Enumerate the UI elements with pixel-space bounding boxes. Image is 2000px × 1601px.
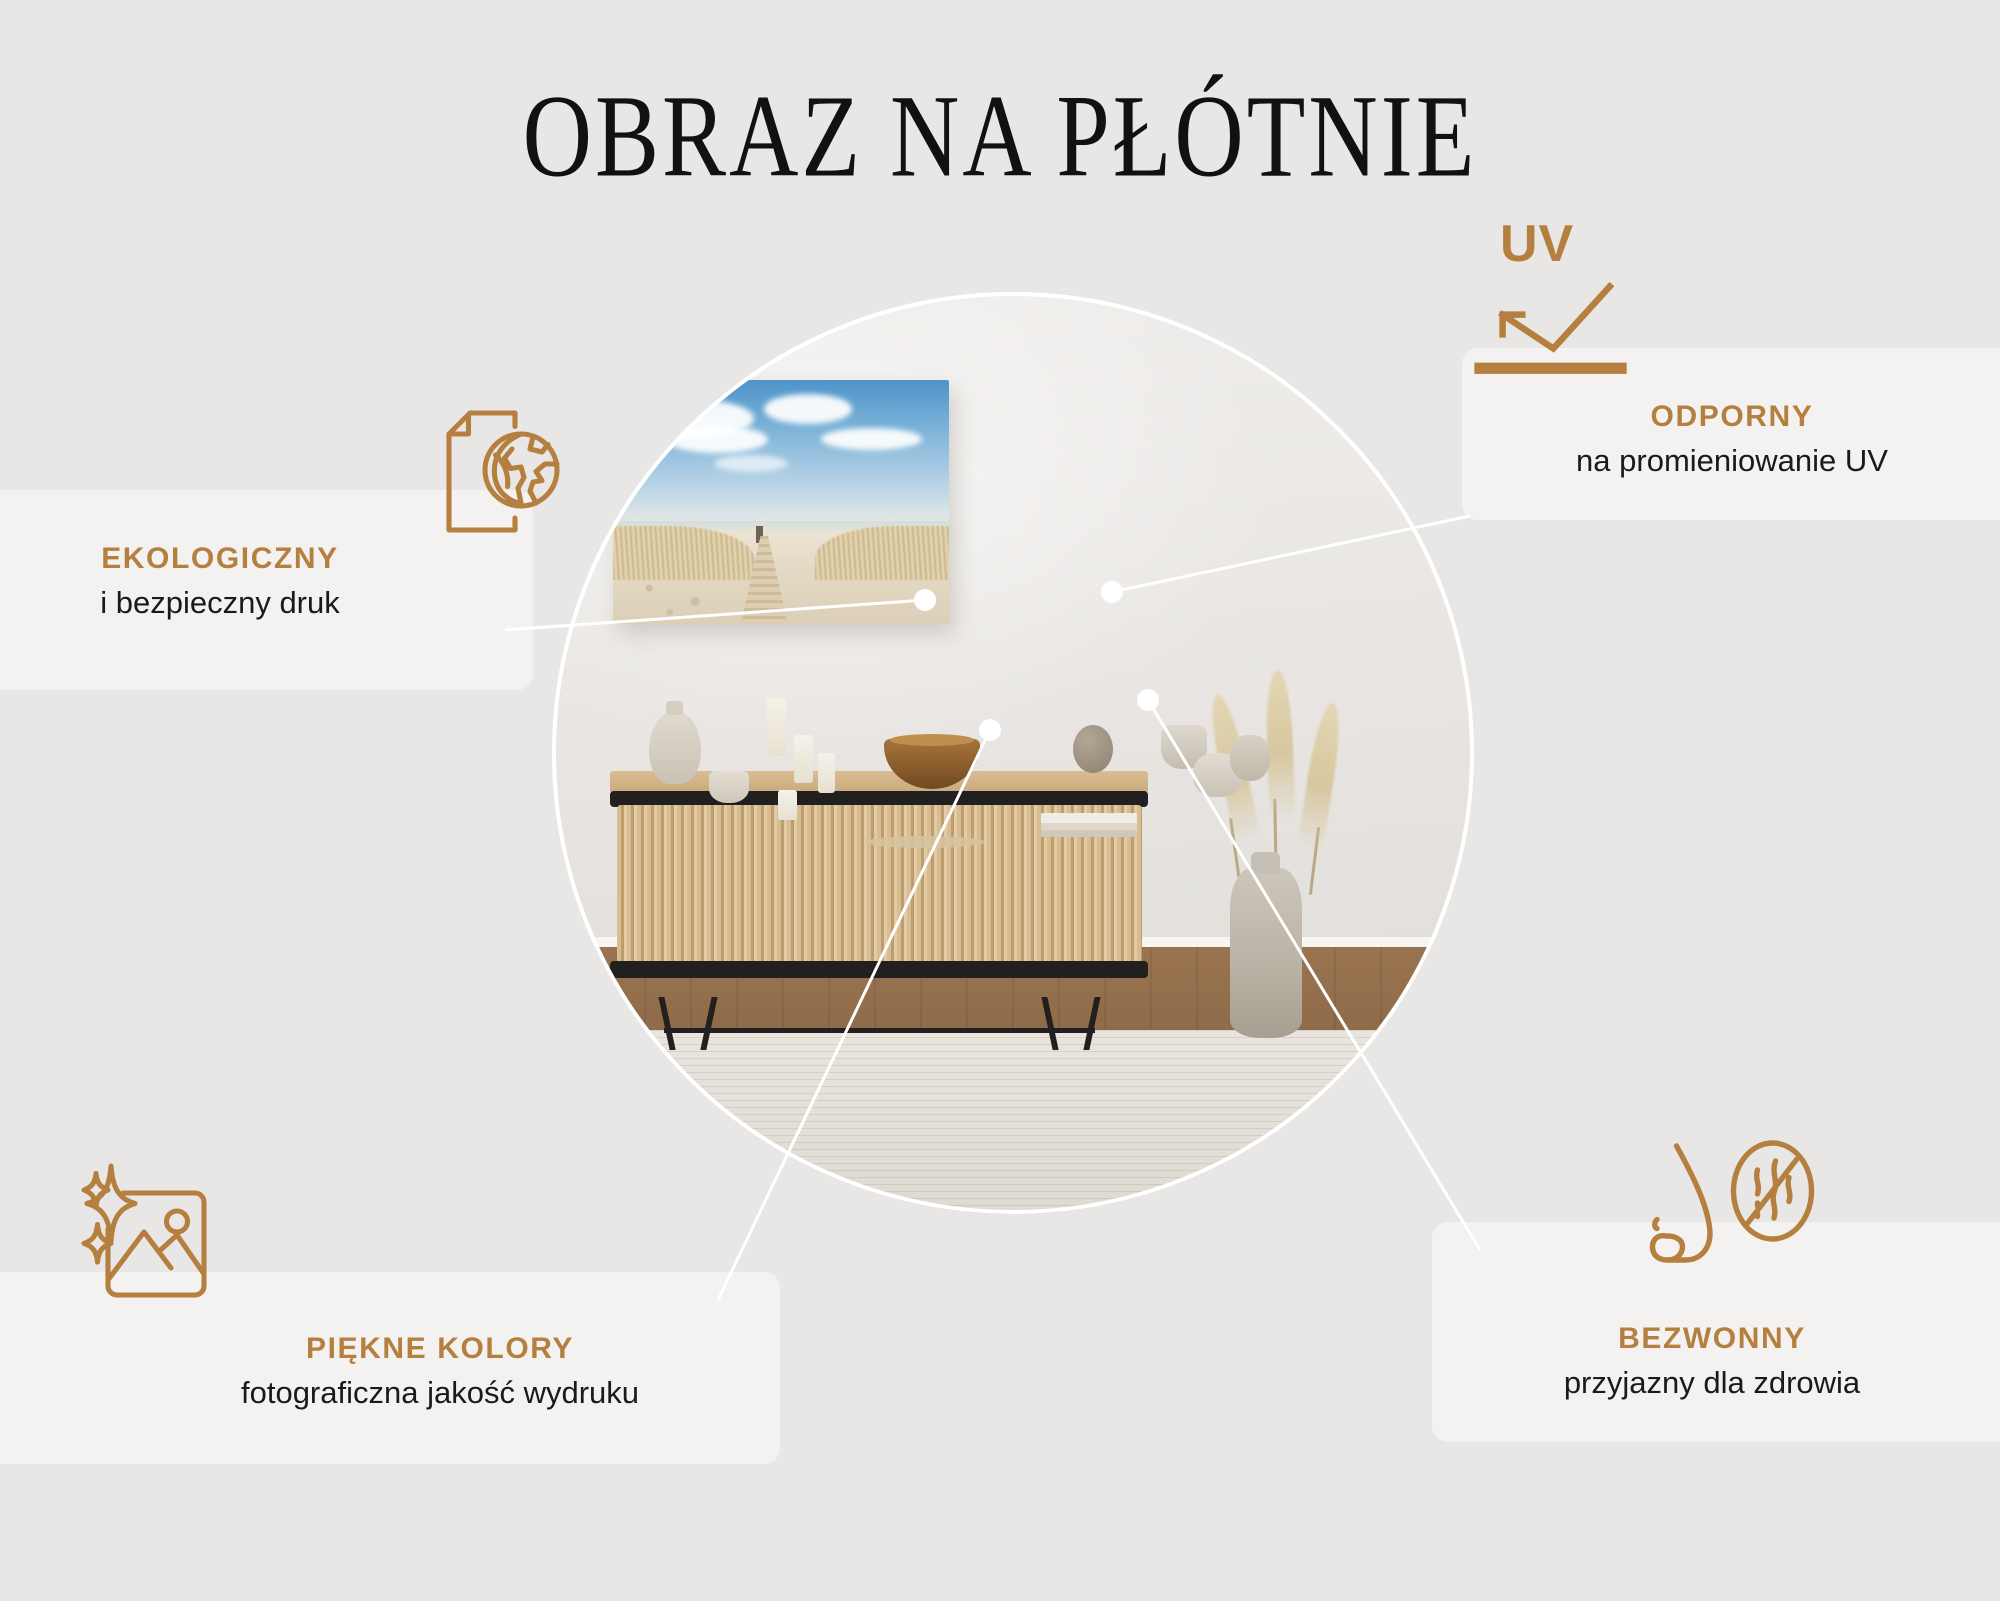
feature-subtitle-bezwonny: przyjazny dla zdrowia (1432, 1364, 1992, 1401)
artwork-footprints (626, 575, 740, 619)
feature-title-piekne-kolory: PIĘKNE KOLORY (170, 1332, 710, 1365)
round-placemat (865, 836, 985, 848)
uv-reflect-icon: UV (1474, 278, 1644, 393)
candle (818, 753, 835, 793)
nose-no-smell-icon (1640, 1140, 1830, 1295)
ceramic-bowl (709, 771, 749, 803)
sparkle-photo-icon (78, 1160, 258, 1315)
candle (767, 698, 786, 756)
feature-title-odporny: ODPORNY (1462, 400, 2000, 433)
page-title: OBRAZ NA PŁÓTNIE (0, 78, 2000, 195)
sideboard (617, 771, 1143, 1011)
room-scene-clip (552, 292, 1474, 1214)
area-rug-texture (552, 1030, 1474, 1214)
feature-subtitle-ekologiczny: i bezpieczny druk (0, 584, 440, 621)
sideboard-stretcher (664, 1028, 1095, 1033)
feature-title-bezwonny: BEZWONNY (1432, 1322, 1992, 1355)
candle (778, 790, 797, 820)
stacked-books (1041, 813, 1137, 837)
feature-subtitle-piekne-kolory: fotograficzna jakość wydruku (170, 1374, 710, 1411)
floor-vase (1230, 868, 1302, 1038)
uv-icon-label: UV (1500, 214, 1574, 274)
artwork-cloud (764, 394, 851, 423)
artwork-cloud (667, 426, 768, 453)
stone-sphere (1073, 725, 1113, 773)
infographic-canvas: OBRAZ NA PŁÓTNIE (0, 0, 2000, 1601)
sideboard-base (610, 961, 1148, 978)
canvas-print-artwork (613, 380, 950, 624)
document-globe-leaf-icon (428, 398, 578, 553)
feature-subtitle-odporny: na promieniowanie UV (1462, 442, 2000, 479)
candle (794, 735, 813, 783)
feature-title-ekologiczny: EKOLOGICZNY (0, 542, 440, 575)
ceramic-vase (649, 712, 701, 784)
room-scene (552, 292, 1474, 1214)
woven-basket (589, 1048, 659, 1106)
ceramic-pot (1230, 735, 1270, 781)
